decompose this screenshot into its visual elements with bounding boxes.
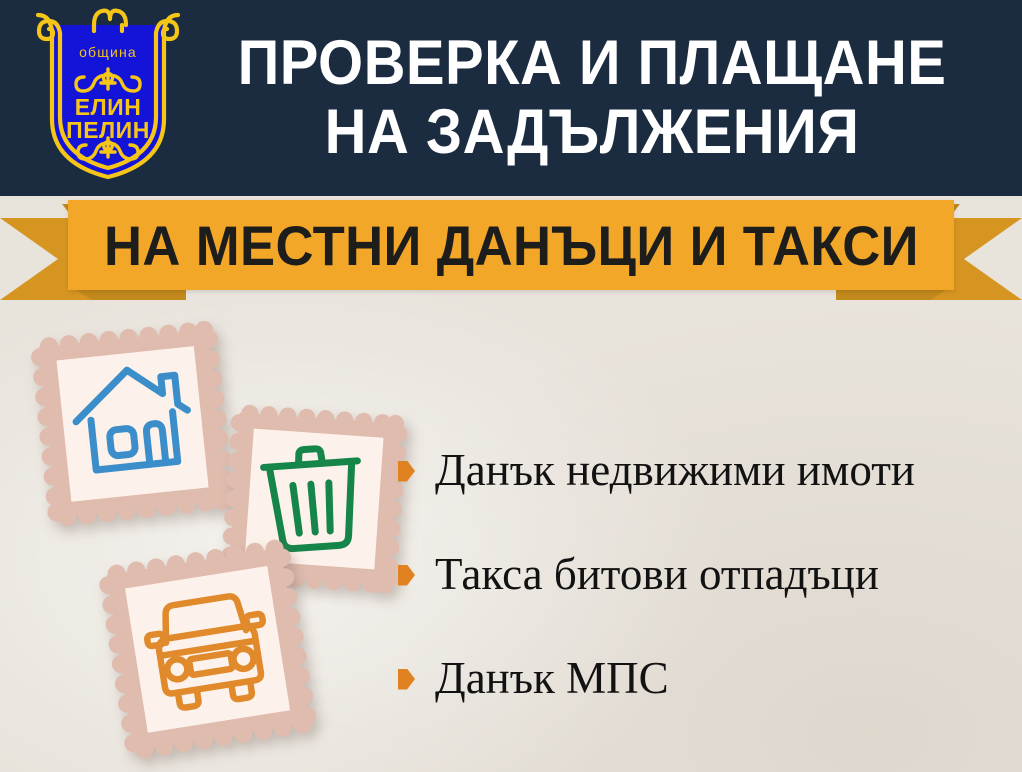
- subtitle-ribbon: НА МЕСТНИ ДАНЪЦИ И ТАКСИ: [0, 196, 1022, 308]
- stamp-card-group: [0, 300, 430, 772]
- arrow-bullet-icon: [398, 669, 415, 690]
- header-banner: община ЕЛИН ПЕЛИН ПРОВЕРКА И ПЛАЩАНЕ НА …: [0, 0, 1022, 196]
- list-item[interactable]: Данък недвижими имоти: [398, 418, 1010, 522]
- list-item-label: Данък МПС: [435, 656, 669, 701]
- crest-label-top: община: [79, 44, 137, 60]
- list-item-label: Такса битови отпадъци: [435, 552, 879, 597]
- stamp-card-vehicle: [88, 530, 332, 772]
- municipality-crest-icon: община ЕЛИН ПЕЛИН: [32, 7, 184, 189]
- ribbon-label: НА МЕСТНИ ДАНЪЦИ И ТАКСИ: [104, 213, 919, 278]
- tax-type-list: Данък недвижими имоти Такса битови отпад…: [398, 418, 1010, 730]
- stamp-card-vehicle-graphic: [88, 530, 332, 772]
- page-title-line1: ПРОВЕРКА И ПЛАЩАНЕ: [220, 33, 963, 95]
- poster-root: Данък недвижими имоти Такса битови отпад…: [0, 0, 1022, 772]
- page-title: ПРОВЕРКА И ПЛАЩАНЕ НА ЗАДЪЛЖЕНИЯ: [184, 33, 1022, 163]
- list-item-label: Данък недвижими имоти: [435, 448, 915, 493]
- list-item[interactable]: Такса битови отпадъци: [398, 522, 1010, 626]
- arrow-bullet-icon: [398, 565, 415, 586]
- arrow-bullet-icon: [398, 461, 415, 482]
- stamp-card-property-inner: [57, 346, 209, 502]
- page-title-line2: НА ЗАДЪЛЖЕНИЯ: [220, 102, 963, 164]
- ribbon-banner: НА МЕСТНИ ДАНЪЦИ И ТАКСИ: [68, 200, 954, 290]
- crest-label-line2: ПЕЛИН: [66, 117, 150, 143]
- list-item[interactable]: Данък МПС: [398, 626, 1010, 730]
